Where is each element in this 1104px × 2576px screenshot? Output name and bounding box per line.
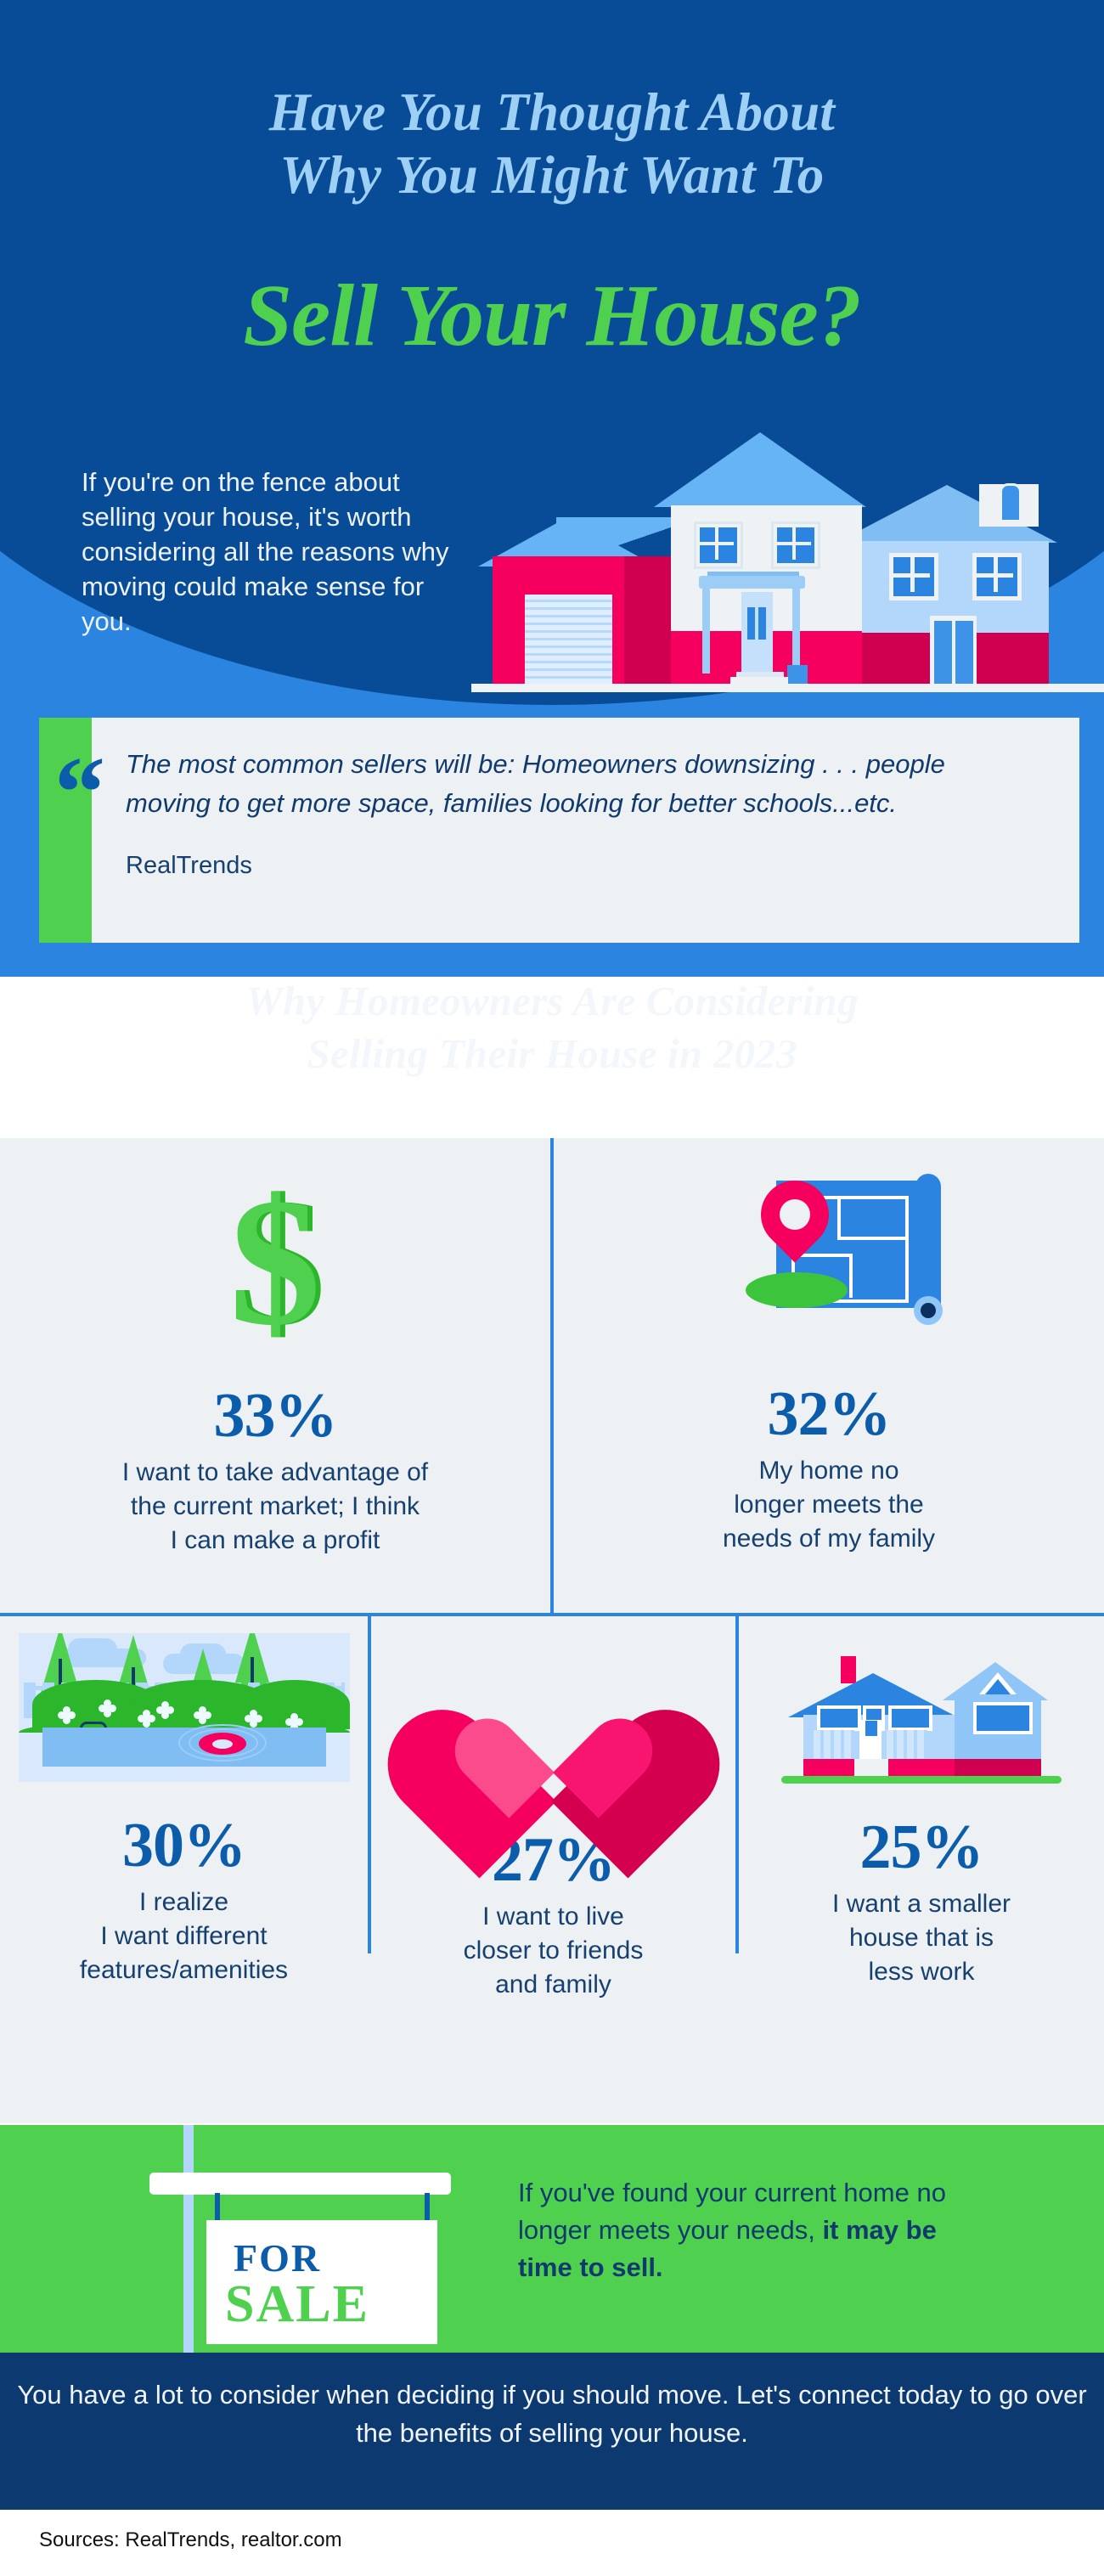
stat-caption-line: longer meets the [554,1488,1104,1522]
stat-caption-line: needs of my family [554,1522,1104,1556]
porch-rail-shape [814,1730,854,1759]
floorplan-wall-shape [837,1237,905,1240]
house-window-shape [888,1705,932,1731]
floorplan-wall-shape [849,1254,853,1298]
main-window-shape [774,524,818,566]
stat-percent: 32% [554,1383,1104,1446]
wing-door-left-shape [934,621,952,684]
front-step-lower-shape [730,677,788,684]
house-steps-shape [854,1759,888,1776]
stat-caption-line: I want to take advantage of [0,1456,550,1490]
stat-caption-line: and family [371,1968,735,2002]
sign-arm-shape [149,2173,451,2195]
sign-sale-label: SALE [206,2274,437,2335]
stat-caption-line: less work [739,1955,1104,1989]
stat-caption-line: closer to friends [371,1934,735,1968]
sources-bar: Sources: RealTrends, realtor.com [0,2510,1104,2576]
pool-float-hole-shape [212,1739,233,1749]
stat-caption-line: house that is [739,1921,1104,1955]
wing-door-right-shape [955,621,973,684]
gable-vent-inner-shape [985,1679,1011,1694]
stat-percent: 30% [0,1814,368,1877]
heart-shape [448,1640,660,1801]
stat-grid: $ 33% I want to take advantage of the cu… [0,1138,1104,2123]
stat-card-33: $ 33% I want to take advantage of the cu… [0,1138,550,1559]
blueprint-map-pin-icon [701,1172,956,1333]
page-title-accent: Sell Your House? [0,272,1104,360]
stat-caption-line: features/amenities [0,1953,368,1987]
house-window-shape [817,1705,861,1731]
stat-card-32: 32% My home no longer meets the needs of… [554,1138,1104,1557]
for-sale-band: FOR SALE If you've found your current ho… [0,2125,1104,2353]
dollar-sign-icon: $ [0,1138,550,1384]
section-heading: Why Homeowners Are Considering Selling T… [0,975,1104,1079]
garage-door-shape [525,595,612,684]
stat-caption-line: I can make a profit [0,1524,550,1558]
sign-hanger-right-shape [425,2193,430,2224]
map-pin-hole-shape [780,1199,810,1230]
stat-caption: I want to take advantage of the current … [0,1456,550,1559]
stat-caption-line: I realize [0,1885,368,1919]
sign-post-shape [183,2125,194,2353]
quote-accent-bar: “ [39,718,92,943]
house-illustration-icon [471,446,1104,692]
stat-caption: I want a smaller house that is less work [739,1887,1104,1990]
house-base-shade-shape [955,1759,1041,1776]
heart-icon [448,1625,660,1807]
stat-caption-line: the current market; I think [0,1490,550,1524]
flower-shape [161,1706,169,1714]
grass-ellipse-shape [746,1272,848,1308]
porch-rail-shape [887,1730,927,1759]
house-door-window-shape [865,1721,877,1736]
footer-text: You have a lot to consider when deciding… [0,2376,1104,2453]
wing-window-shape [972,553,1022,600]
section-heading-line-1: Why Homeowners Are Considering [0,975,1104,1028]
stat-caption: I want to live closer to friends and fam… [371,1900,735,2003]
wing-window-shape [889,553,938,600]
flower-shape [290,1718,298,1726]
flower-shape [63,1711,70,1719]
quote-body: The most common sellers will be: Homeown… [92,718,1034,943]
stat-caption-line: I want different [0,1919,368,1953]
porch-roof-shape [699,576,805,589]
backyard-pool-icon [19,1633,350,1782]
stat-percent: 33% [0,1384,550,1447]
stat-caption-line: I want a smaller [739,1887,1104,1921]
floorplan-wall-shape [837,1196,841,1240]
blueprint-roll-shape [915,1174,941,1316]
infographic-page: Have You Thought About Why You Might Wan… [0,0,1104,2576]
blueprint-roll-dot-shape [921,1303,936,1318]
sign-hanger-left-shape [215,2193,220,2224]
section-heading-line-2: Selling Their House in 2023 [0,1028,1104,1080]
house-window-shape [973,1702,1033,1734]
flower-shape [250,1715,257,1722]
flower-shape [143,1715,150,1722]
dollar-glyph: $ [229,1170,321,1353]
porch-column-shape [702,584,710,674]
quote-text: The most common sellers will be: Homeown… [126,745,1000,823]
main-roof-shape [654,432,866,507]
page-title-line-2: Why You Might Want To [0,144,1104,206]
stat-percent: 27% [371,1829,735,1891]
stat-caption-line: I want to live [371,1900,735,1934]
footer-cta: You have a lot to consider when deciding… [0,2353,1104,2510]
stat-caption: I realize I want different features/amen… [0,1885,368,1988]
small-house-icon [781,1635,1062,1784]
for-sale-sign-icon: FOR SALE [206,2220,437,2344]
stat-card-25: 25% I want a smaller house that is less … [739,1616,1104,1990]
page-title-line-1: Have You Thought About [0,81,1104,144]
stat-card-27: 27% I want to live closer to friends and… [371,1616,735,2003]
sources-text: Sources: RealTrends, realtor.com [39,2528,342,2552]
house-grass-shape [781,1776,1062,1784]
band-message: If you've found your current home no lon… [518,2174,994,2286]
stat-caption: My home no longer meets the needs of my … [554,1454,1104,1557]
flower-shape [104,1705,111,1712]
quote-source: RealTrends [126,852,1000,880]
front-door-window-shape [747,607,766,640]
ground-strip [471,684,1104,692]
garage-body-shade-shape [624,556,671,684]
flower-shape [199,1711,206,1719]
stat-card-30: 30% I realize I want different features/… [0,1616,368,1988]
dormer-window-shape [1000,483,1022,522]
porch-column-shape [792,584,800,674]
main-window-shape [696,524,741,566]
quote-card: “ The most common sellers will be: Homeo… [39,718,1079,943]
quotation-mark-icon: “ [54,741,105,843]
stat-caption-line: My home no [554,1454,1104,1488]
page-title: Have You Thought About Why You Might Wan… [0,81,1104,207]
planter-shape [787,665,808,684]
stat-percent: 25% [739,1816,1104,1879]
hero-subtext: If you're on the fence about selling you… [82,465,481,640]
